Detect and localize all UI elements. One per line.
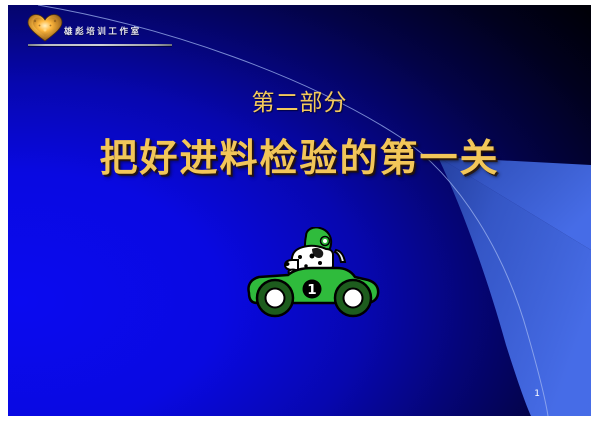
decorative-arc-line (8, 5, 591, 416)
page-number: 1 (534, 389, 540, 399)
svg-text:1: 1 (307, 282, 316, 298)
slide-subtitle: 第二部分 (8, 83, 591, 117)
logo-underline-rule (28, 44, 172, 46)
slide-canvas: 雄彪培训工作室 第二部分 把好进料检验的第一关 (8, 5, 591, 416)
brand-logo: 雄彪培训工作室 (26, 11, 176, 51)
brand-logo-text: 雄彪培训工作室 (64, 25, 142, 37)
slide-title: 把好进料检验的第一关 (8, 127, 591, 182)
green-race-car-icon: 1 (242, 227, 382, 319)
ornate-heart-emblem-icon (26, 13, 64, 43)
